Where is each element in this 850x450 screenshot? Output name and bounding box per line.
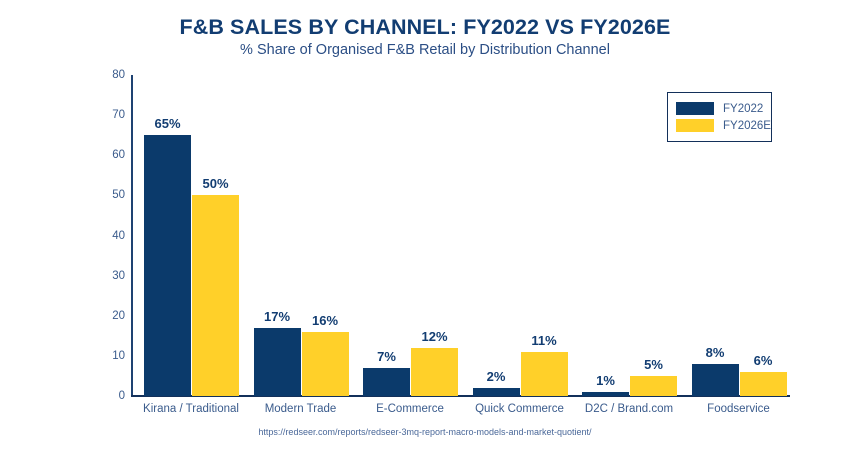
bar-fy2026e[interactable]: 6% xyxy=(740,372,787,396)
bar-value-label: 1% xyxy=(596,373,615,388)
y-axis-tick-label: 50 xyxy=(99,189,125,201)
x-axis-category-label: Foodservice xyxy=(659,403,819,415)
bar-group: 2%11% xyxy=(473,75,568,396)
bar-group: 17%16% xyxy=(254,75,349,396)
bar-fy2022[interactable]: 1% xyxy=(582,392,629,396)
legend-swatch-icon xyxy=(676,119,714,132)
bar-value-label: 11% xyxy=(531,333,556,348)
legend-swatch-icon xyxy=(676,102,714,115)
y-axis-tick-label: 20 xyxy=(99,310,125,322)
y-axis-tick-label: 80 xyxy=(99,69,125,81)
legend-label: FY2022 xyxy=(723,103,763,115)
bar-group: 1%5% xyxy=(582,75,677,396)
bar-value-label: 12% xyxy=(421,329,447,344)
chart-legend: FY2022FY2026E xyxy=(667,92,772,142)
chart-figure: F&B SALES BY CHANNEL: FY2022 VS FY2026E … xyxy=(0,0,850,450)
y-axis-tick-label: 40 xyxy=(99,230,125,242)
bar-value-label: 16% xyxy=(312,313,338,328)
y-axis-ticks: 01020304050607080 xyxy=(97,75,125,396)
bar-fy2022[interactable]: 8% xyxy=(692,364,739,396)
source-url: https://redseer.com/reports/redseer-3mq-… xyxy=(0,427,850,437)
bar-value-label: 8% xyxy=(706,345,725,360)
legend-item-fy2026e[interactable]: FY2026E xyxy=(676,117,762,134)
bar-group: 65%50% xyxy=(144,75,239,396)
bar-value-label: 6% xyxy=(754,353,773,368)
bar-value-label: 2% xyxy=(487,369,506,384)
bar-fy2026e[interactable]: 16% xyxy=(302,332,349,396)
legend-item-fy2022[interactable]: FY2022 xyxy=(676,100,762,117)
bar-value-label: 5% xyxy=(644,357,663,372)
bar-fy2026e[interactable]: 12% xyxy=(411,348,458,396)
y-axis-tick-label: 70 xyxy=(99,109,125,121)
y-axis-tick-label: 0 xyxy=(99,390,125,402)
chart-subtitle: % Share of Organised F&B Retail by Distr… xyxy=(0,42,850,58)
y-axis-tick-label: 10 xyxy=(99,350,125,362)
bar-fy2022[interactable]: 65% xyxy=(144,135,191,396)
bar-value-label: 65% xyxy=(154,116,180,131)
bar-fy2026e[interactable]: 5% xyxy=(630,376,677,396)
bar-value-label: 50% xyxy=(202,176,228,191)
bar-fy2026e[interactable]: 11% xyxy=(521,352,568,396)
bar-fy2022[interactable]: 2% xyxy=(473,388,520,396)
bar-group: 7%12% xyxy=(363,75,458,396)
y-axis-tick-label: 60 xyxy=(99,149,125,161)
bar-fy2026e[interactable]: 50% xyxy=(192,195,239,396)
legend-label: FY2026E xyxy=(723,120,771,132)
bar-fy2022[interactable]: 7% xyxy=(363,368,410,396)
chart-title: F&B SALES BY CHANNEL: FY2022 VS FY2026E xyxy=(0,15,850,40)
y-axis-tick-label: 30 xyxy=(99,270,125,282)
bar-value-label: 7% xyxy=(377,349,396,364)
bar-fy2022[interactable]: 17% xyxy=(254,328,301,396)
bar-value-label: 17% xyxy=(264,309,290,324)
